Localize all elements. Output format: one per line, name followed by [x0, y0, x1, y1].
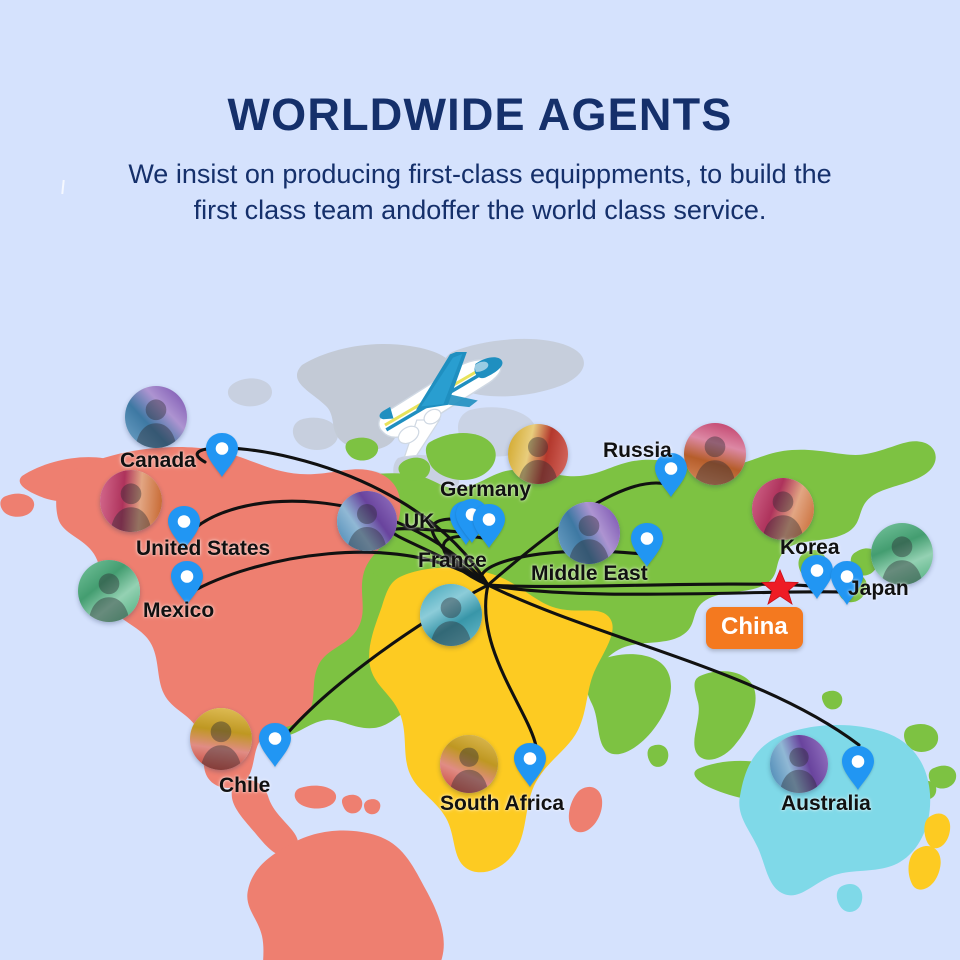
country-label-korea[interactable]: Korea: [780, 537, 840, 558]
hub-label-china[interactable]: China: [706, 607, 803, 649]
region-australia: [739, 725, 930, 912]
avatar-person-silhouette: [752, 478, 814, 540]
country-label-germany[interactable]: Germany: [440, 479, 531, 500]
map-pin-south-africa[interactable]: [513, 742, 547, 788]
subtitle-line-2: first class team andoffer the world clas…: [0, 193, 960, 229]
avatar-chile[interactable]: [190, 708, 252, 770]
avatar-person-silhouette: [78, 560, 140, 622]
avatar-person-silhouette: [190, 708, 252, 770]
header: WORLDWIDE AGENTS We insist on producing …: [0, 0, 960, 228]
avatar-united-states[interactable]: [100, 470, 162, 532]
country-label-mexico[interactable]: Mexico: [143, 600, 214, 621]
avatar-person-silhouette: [100, 470, 162, 532]
avatar-uk[interactable]: [337, 491, 397, 551]
avatar-germany[interactable]: [508, 424, 568, 484]
avatar-japan[interactable]: [871, 523, 933, 585]
location-pin-icon: [841, 745, 875, 791]
location-pin-icon: [205, 432, 239, 478]
avatar-russia[interactable]: [684, 423, 746, 485]
avatar-australia[interactable]: [770, 735, 828, 793]
country-label-japan[interactable]: Japan: [848, 578, 909, 599]
subtitle-line-1: We insist on producing first-class equip…: [0, 157, 960, 193]
avatar-korea[interactable]: [752, 478, 814, 540]
map-pin-australia[interactable]: [841, 745, 875, 791]
map-pin-france[interactable]: [472, 503, 506, 549]
country-label-uk[interactable]: UK: [404, 511, 434, 532]
airplane-icon: [352, 352, 522, 462]
page-subtitle: We insist on producing first-class equip…: [0, 157, 960, 228]
country-label-russia[interactable]: Russia: [603, 440, 672, 461]
avatar-person-silhouette: [684, 423, 746, 485]
map-pin-chile[interactable]: [258, 722, 292, 768]
avatar-person-silhouette: [871, 523, 933, 585]
avatar-person-silhouette: [770, 735, 828, 793]
country-label-france[interactable]: France: [418, 550, 487, 571]
country-label-south-africa[interactable]: South Africa: [440, 793, 564, 814]
location-pin-icon: [472, 503, 506, 549]
red-star-icon: [760, 568, 800, 608]
map-pin-korea[interactable]: [800, 554, 834, 600]
avatar-person-silhouette: [420, 584, 482, 646]
avatar-person-silhouette: [440, 735, 498, 793]
region-africa: [369, 568, 613, 873]
avatar-france[interactable]: [420, 584, 482, 646]
map-pin-canada[interactable]: [205, 432, 239, 478]
avatar-person-silhouette: [337, 491, 397, 551]
avatar-person-silhouette: [558, 502, 620, 564]
location-pin-icon: [258, 722, 292, 768]
avatar-middle-east[interactable]: [558, 502, 620, 564]
country-label-chile[interactable]: Chile: [219, 775, 270, 796]
avatar-south-africa[interactable]: [440, 735, 498, 793]
country-label-canada[interactable]: Canada: [120, 450, 196, 471]
country-label-australia[interactable]: Australia: [781, 793, 871, 814]
country-label-united-states[interactable]: United States: [136, 538, 270, 559]
poster-canvas: WORLDWIDE AGENTS We insist on producing …: [0, 0, 960, 960]
avatar-canada[interactable]: [125, 386, 187, 448]
location-pin-icon: [800, 554, 834, 600]
avatar-mexico[interactable]: [78, 560, 140, 622]
avatar-person-silhouette: [125, 386, 187, 448]
location-pin-icon: [513, 742, 547, 788]
country-label-middle-east[interactable]: Middle East: [531, 563, 648, 584]
page-title: WORLDWIDE AGENTS: [0, 92, 960, 137]
avatar-person-silhouette: [508, 424, 568, 484]
